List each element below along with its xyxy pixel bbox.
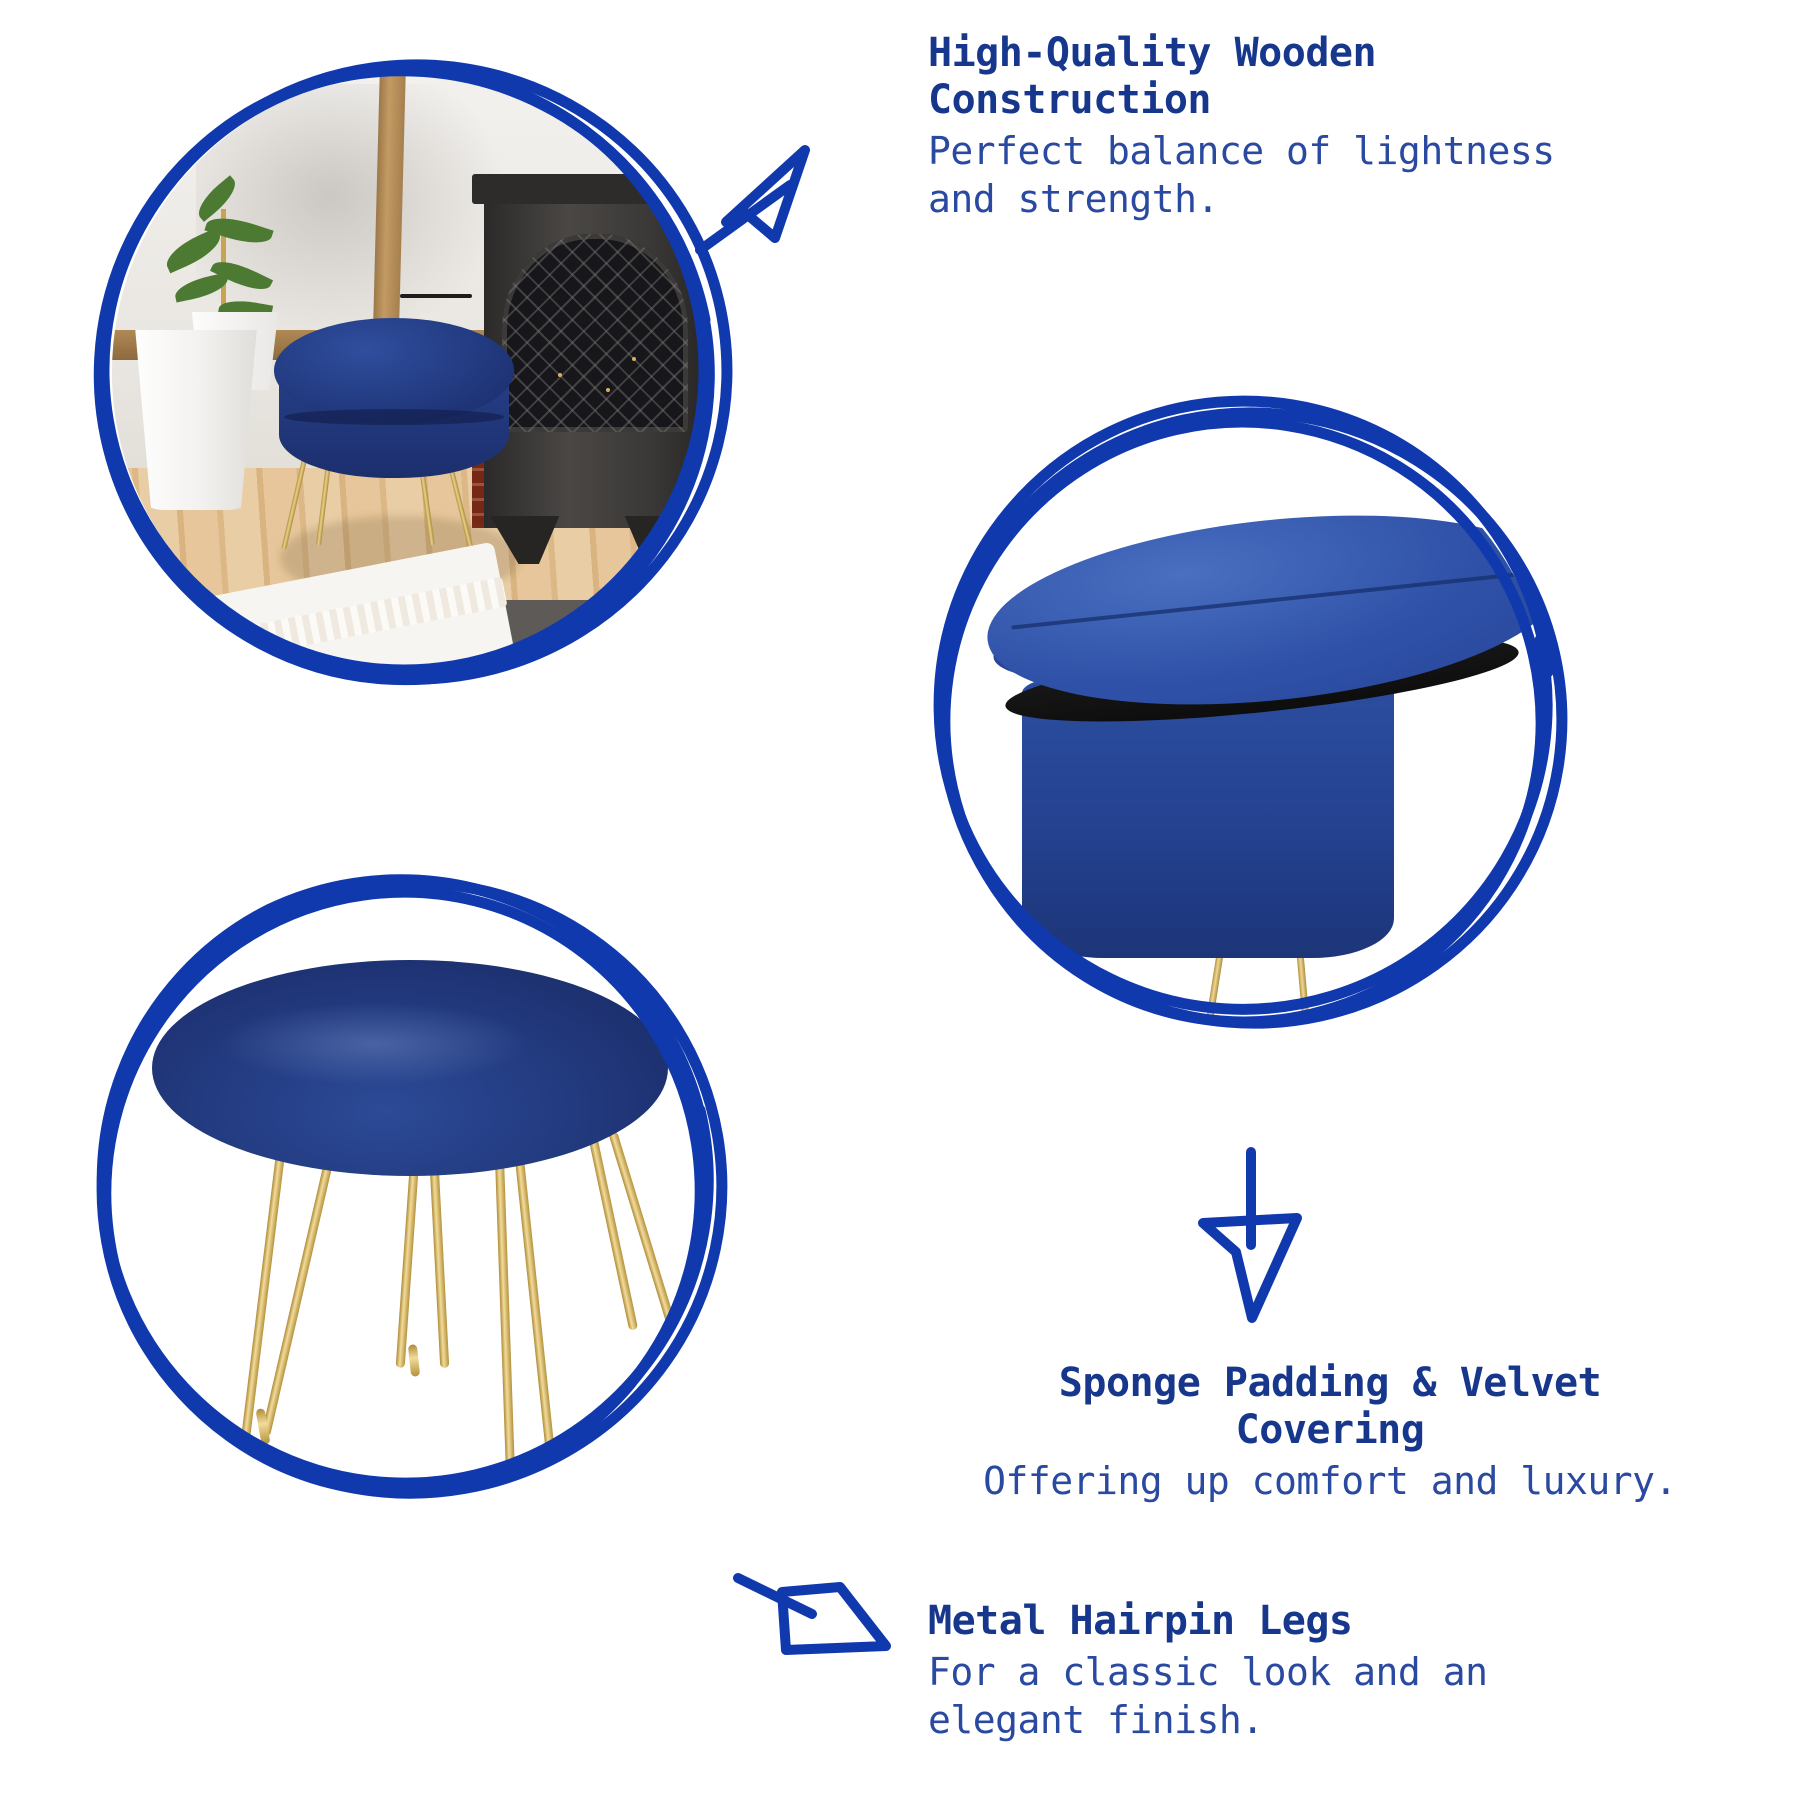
feature-block-hairpin-legs: Metal Hairpin Legs For a classic look an…: [928, 1598, 1748, 1744]
feature-block-sponge: Sponge Padding & Velvet Covering Offerin…: [930, 1360, 1730, 1506]
feature-block-wooden: High-Quality Wooden Construction Perfect…: [928, 30, 1748, 223]
feature-heading-wooden: High-Quality Wooden Construction: [928, 30, 1748, 124]
feature-body-hairpin-legs: For a classic look and an elegant finish…: [928, 1649, 1748, 1744]
feature-heading-sponge: Sponge Padding & Velvet Covering: [930, 1360, 1730, 1454]
feature-body-wooden: Perfect balance of lightness and strengt…: [928, 128, 1748, 223]
photo-lid-closeup: [950, 418, 1550, 1018]
feature-heading-hairpin-legs: Metal Hairpin Legs: [928, 1598, 1748, 1645]
photo-hairpin-legs: [110, 888, 710, 1488]
arrow-up-right-icon-bottom: [738, 1578, 886, 1650]
infographic-canvas: High-Quality Wooden Construction Perfect…: [0, 0, 1800, 1800]
arrow-up-right-icon-top: [700, 150, 805, 250]
feature-body-sponge: Offering up comfort and luxury.: [930, 1458, 1730, 1506]
stool-in-room: [274, 318, 514, 546]
photo-room-scene: [112, 72, 712, 672]
arrow-down-icon-middle: [1203, 1152, 1297, 1318]
plant-pot: [130, 330, 262, 510]
